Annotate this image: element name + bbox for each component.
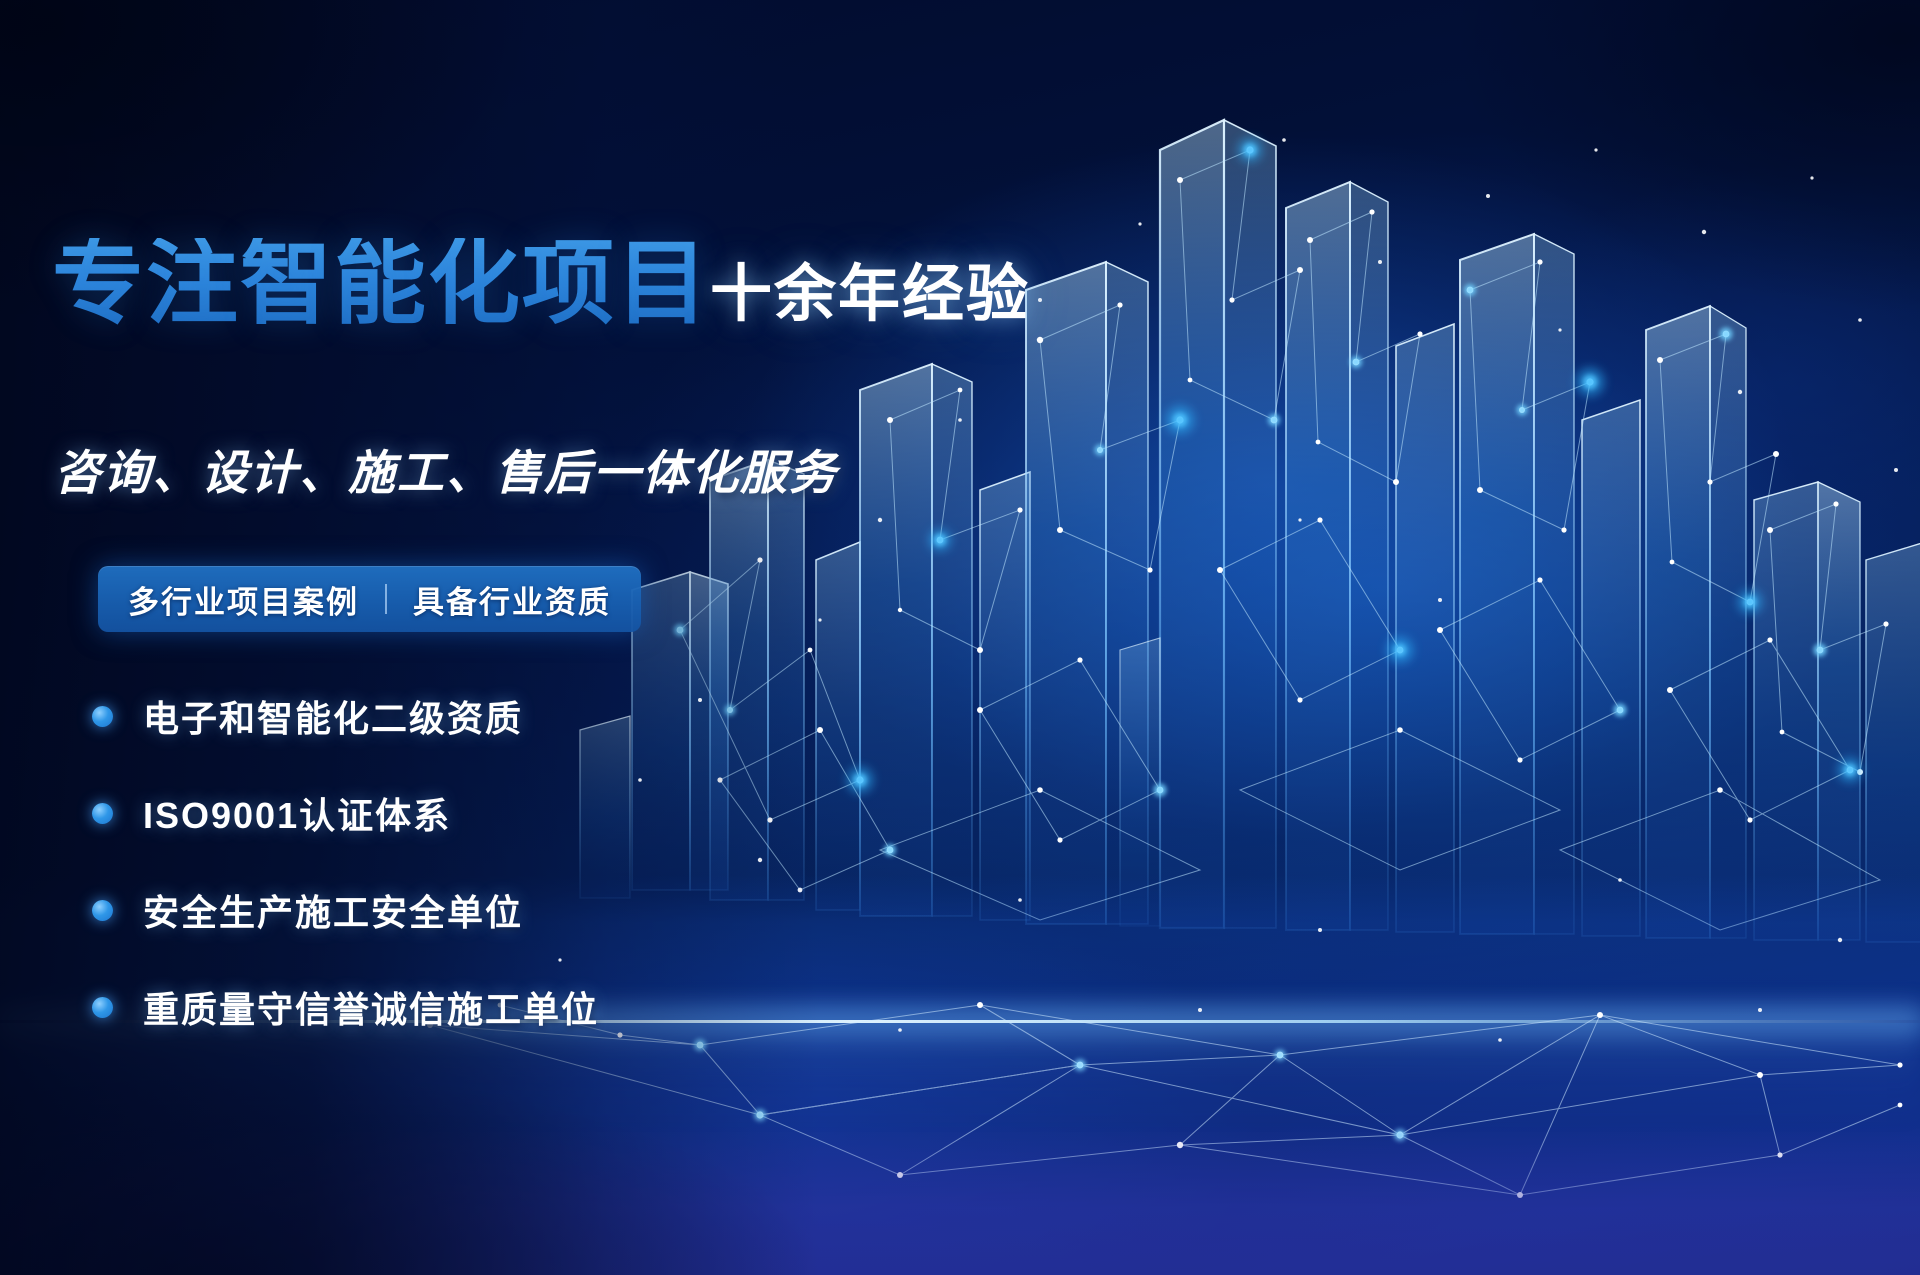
list-item: ISO9001认证体系 xyxy=(92,787,599,839)
headline-accent-text: 十余年经验 xyxy=(710,264,1030,330)
subtitle-text: 咨询、设计、施工、售后一体化服务 xyxy=(54,434,838,503)
list-item: 安全生产施工安全单位 xyxy=(92,884,599,936)
bullet-dot-icon xyxy=(92,803,113,824)
highlight-pill[interactable]: 多行业项目案例 具备行业资质 xyxy=(98,566,641,632)
bullet-label: ISO9001认证体系 xyxy=(143,787,451,839)
list-item: 电子和智能化二级资质 xyxy=(92,690,599,742)
hero-banner: 专注智能化项目 十余年经验 咨询、设计、施工、售后一体化服务 多行业项目案例 具… xyxy=(0,0,1920,1275)
bullet-label: 重质量守信誉诚信施工单位 xyxy=(143,981,599,1033)
pill-label-left: 多行业项目案例 xyxy=(128,577,359,622)
bullet-dot-icon xyxy=(92,900,113,921)
list-item: 重质量守信誉诚信施工单位 xyxy=(92,981,599,1033)
headline: 专注智能化项目 十余年经验 xyxy=(52,238,1030,330)
hero-content: 专注智能化项目 十余年经验 咨询、设计、施工、售后一体化服务 多行业项目案例 具… xyxy=(52,0,1052,1275)
pill-separator xyxy=(385,584,387,614)
bullet-dot-icon xyxy=(92,997,113,1018)
pill-label-right: 具备行业资质 xyxy=(413,577,611,622)
bullet-dot-icon xyxy=(92,706,113,727)
bullet-label: 安全生产施工安全单位 xyxy=(143,884,523,936)
headline-main-text: 专注智能化项目 xyxy=(52,238,710,330)
bullet-label: 电子和智能化二级资质 xyxy=(143,690,523,742)
qualification-list: 电子和智能化二级资质 ISO9001认证体系 安全生产施工安全单位 重质量守信誉… xyxy=(92,690,599,1033)
